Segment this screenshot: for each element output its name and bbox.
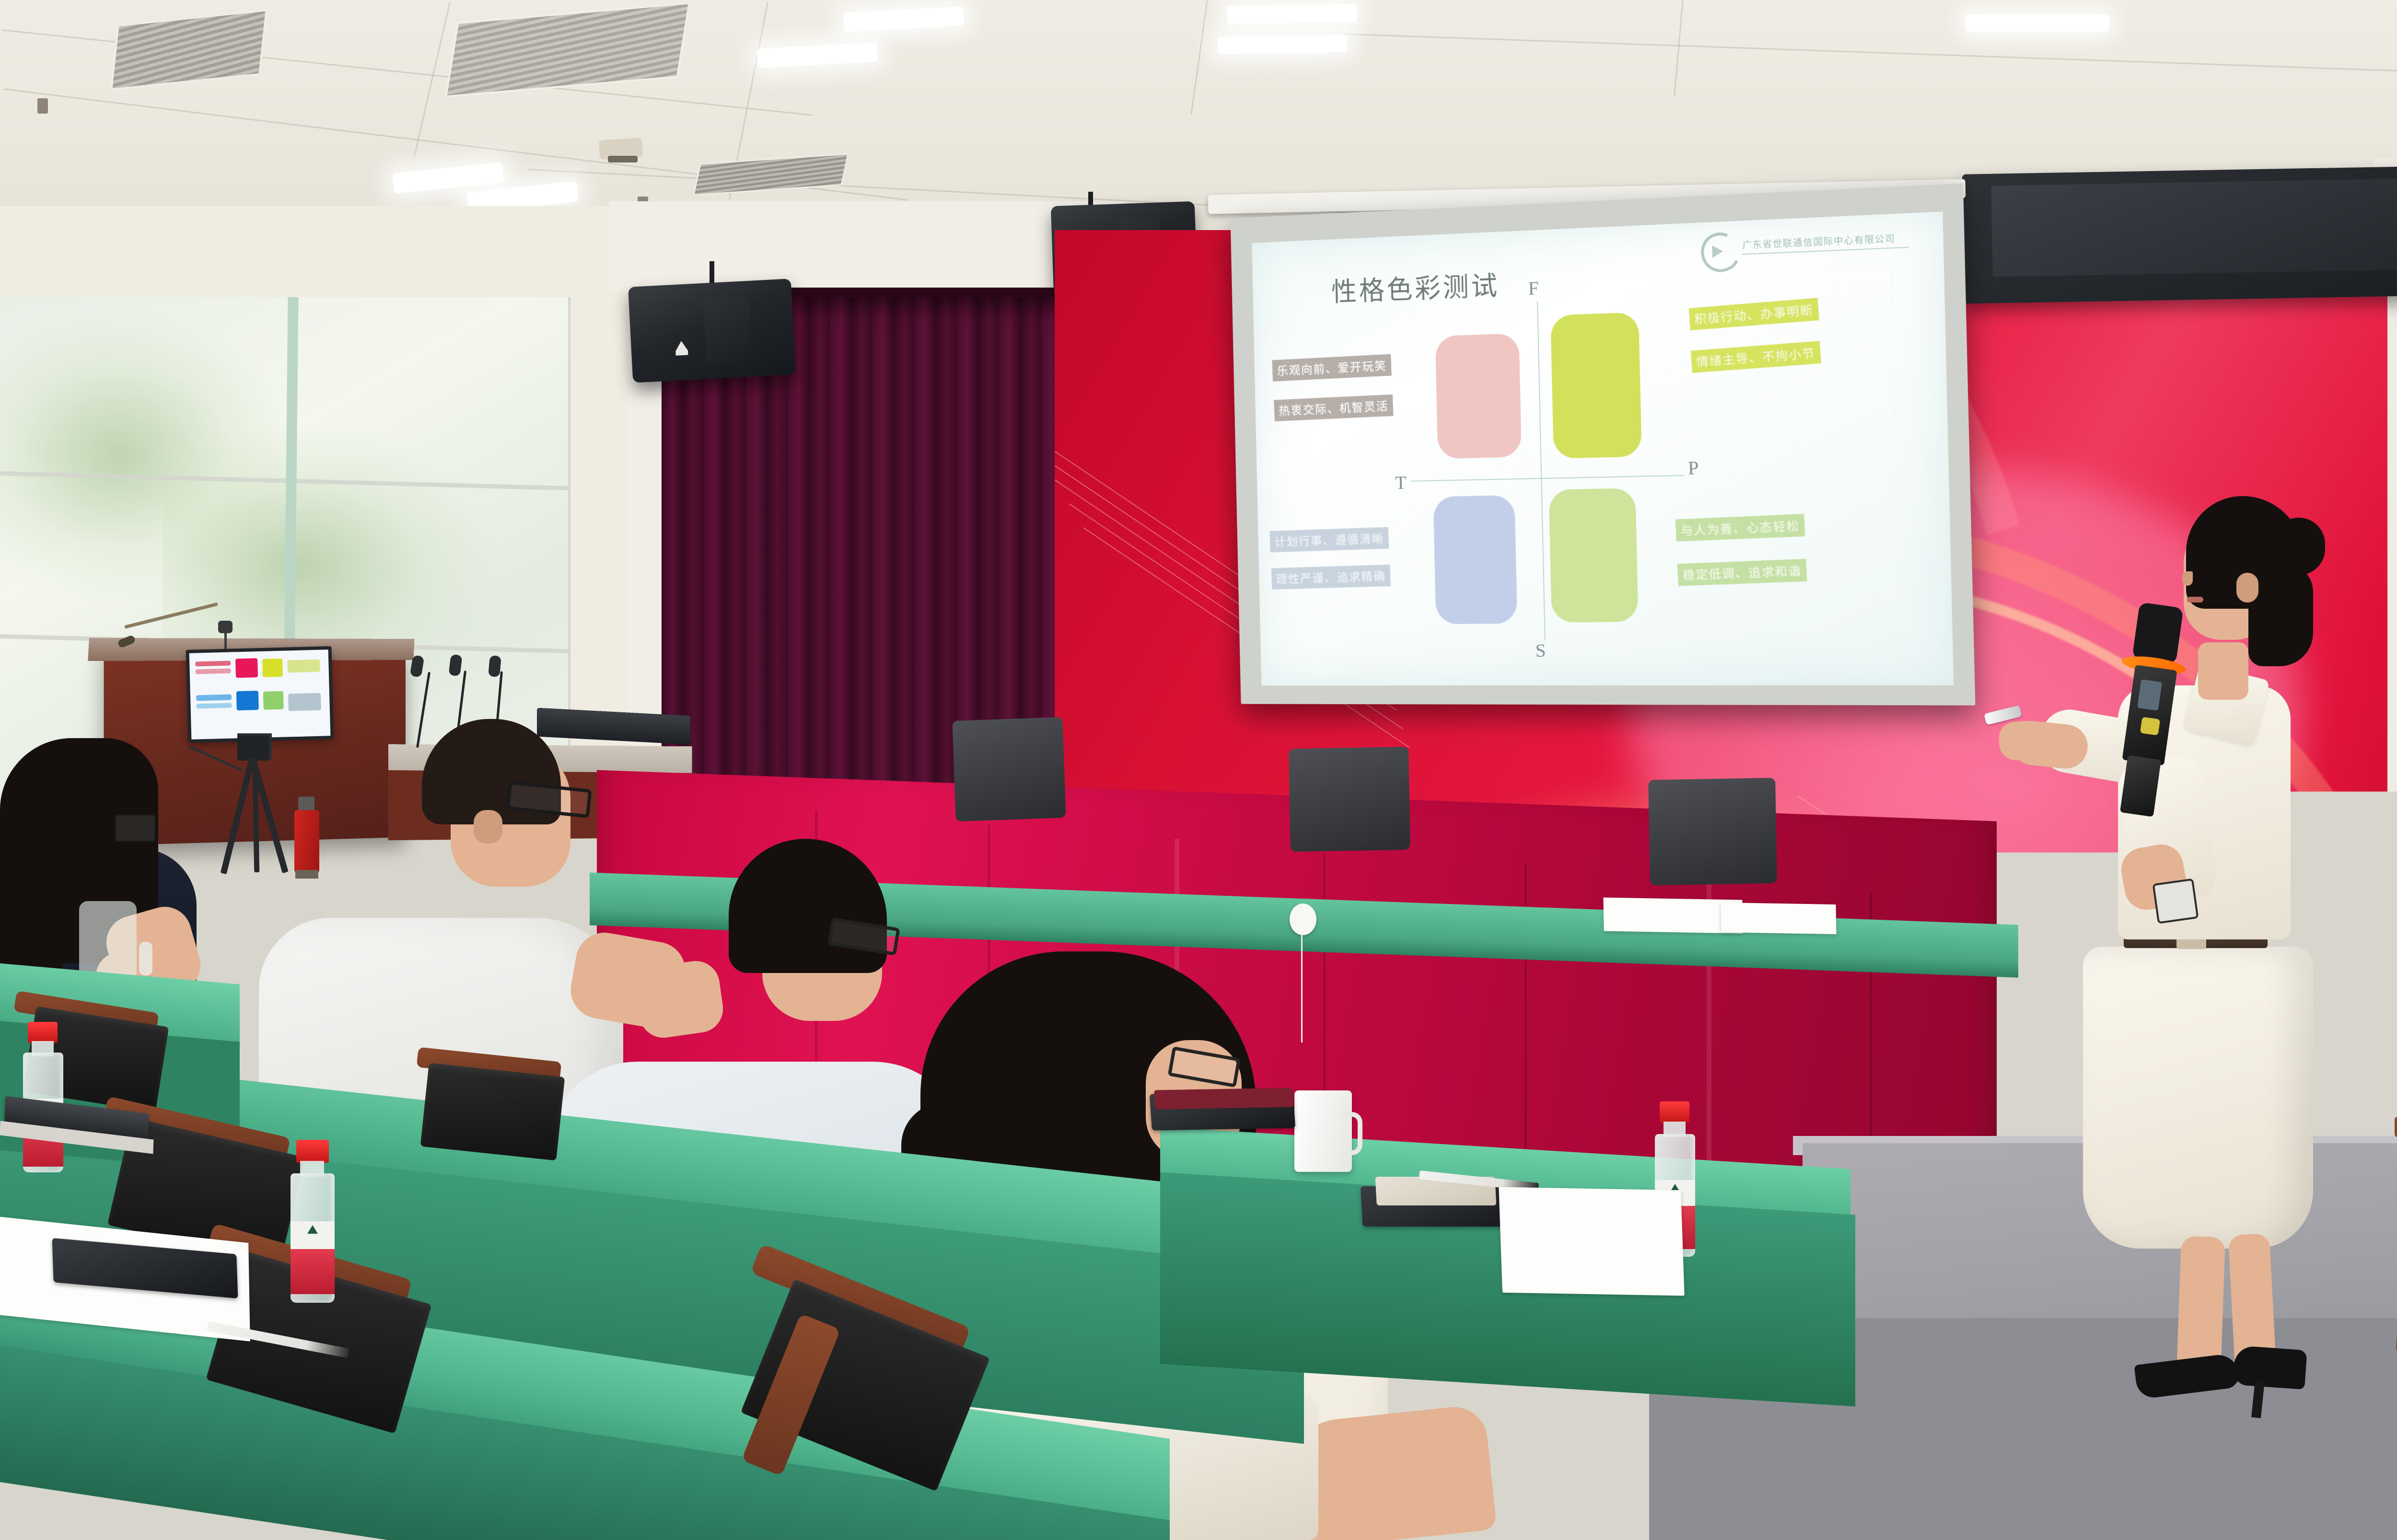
ceiling-light xyxy=(1218,35,1348,55)
axis-label-right: P xyxy=(1687,456,1699,479)
microphone-head xyxy=(2132,602,2184,664)
attendee-left-glasses xyxy=(115,815,155,842)
presenter-nose xyxy=(2182,571,2193,586)
vertical-axis xyxy=(1537,301,1546,640)
phone-case xyxy=(1154,1088,1294,1109)
company-logo-icon xyxy=(1712,245,1723,258)
axis-label-left: T xyxy=(1395,471,1407,494)
clip-cord xyxy=(1301,932,1303,1042)
bottle-cap xyxy=(1660,1101,1689,1123)
microphone-button[interactable] xyxy=(2140,717,2160,736)
mug-handle xyxy=(1341,1112,1362,1155)
chair-backrest[interactable] xyxy=(420,1063,565,1161)
quadrant-blue xyxy=(1433,495,1518,624)
microphone-display xyxy=(2137,679,2162,711)
table-skirt-clip[interactable] xyxy=(1290,903,1316,935)
horizontal-axis xyxy=(1411,475,1685,482)
ceiling-light xyxy=(1966,14,2109,32)
podium-mic-capsule xyxy=(218,621,233,633)
bottle-label xyxy=(291,1249,335,1294)
chair-right-apron xyxy=(2395,1117,2397,1137)
paper-sheet[interactable] xyxy=(1499,1187,1684,1296)
axis-label-bottom: S xyxy=(1535,639,1546,662)
presentation-slide: 性格色彩测试 广东省世联通信国际中心有限公司 F P T S 乐观向前、爱开玩笑… xyxy=(1252,212,1954,686)
tag-top-right-1: 积极行动、办事明断 xyxy=(1689,298,1819,330)
smoke-detector-grill xyxy=(608,156,638,162)
attendee-left-bracelet xyxy=(139,942,152,975)
stage-chair[interactable] xyxy=(1648,778,1777,886)
fire-extinguisher xyxy=(294,810,319,872)
presenter-shoe xyxy=(2233,1345,2307,1389)
bottle-logo-icon xyxy=(307,1225,318,1234)
wall-display-screen xyxy=(1991,178,2397,277)
tag-top-right-2: 情绪主导、不拘小节 xyxy=(1691,341,1821,373)
smart-watch[interactable] xyxy=(2153,878,2199,924)
lectern-monitor[interactable] xyxy=(186,646,334,743)
fire-extinguisher-base xyxy=(295,870,318,879)
presenter-ear xyxy=(2236,573,2258,602)
tag-bottom-right-1: 与人为善、心态轻松 xyxy=(1676,514,1805,542)
attendee-glasses-hand xyxy=(633,958,726,1041)
bottle-cap xyxy=(296,1140,329,1163)
wall-speaker-left xyxy=(628,278,796,383)
presenter-hand xyxy=(1998,720,2046,761)
tag-top-left-2: 热衷交际、机智灵活 xyxy=(1274,394,1394,421)
presenter-mouth xyxy=(2187,597,2203,602)
quadrant-green xyxy=(1549,488,1639,622)
gooseneck-mic-head xyxy=(488,655,501,677)
stage-chair[interactable] xyxy=(1289,747,1410,852)
quadrant-red xyxy=(1435,333,1522,459)
paper-sheet[interactable] xyxy=(1721,903,1836,934)
conference-room-photo: 性格色彩测试 广东省世联通信国际中心有限公司 F P T S 乐观向前、爱开玩笑… xyxy=(0,0,2397,1540)
quadrant-yellow xyxy=(1550,312,1642,459)
presenter-skirt xyxy=(2083,947,2313,1249)
attendee-glasses-ear xyxy=(474,810,502,844)
presenter-neck xyxy=(2198,642,2248,700)
slide-title: 性格色彩测试 xyxy=(1331,264,1500,309)
sprinkler-icon xyxy=(37,98,48,114)
tag-top-left-1: 乐观向前、爱开玩笑 xyxy=(1272,354,1391,382)
axis-label-top: F xyxy=(1528,277,1539,300)
stage-chair[interactable] xyxy=(952,717,1066,822)
ceiling-light xyxy=(1227,4,1357,24)
bottle-cap xyxy=(28,1022,58,1043)
tag-bottom-left-2: 理性严谨、追求精确 xyxy=(1271,565,1391,590)
presenter-hair-bun xyxy=(2272,518,2325,575)
presenter-hair-back xyxy=(2248,563,2313,666)
tag-bottom-left-1: 计划行事、遵循清晰 xyxy=(1269,527,1389,553)
tag-bottom-right-2: 稳定低调、追求和谐 xyxy=(1677,559,1807,586)
